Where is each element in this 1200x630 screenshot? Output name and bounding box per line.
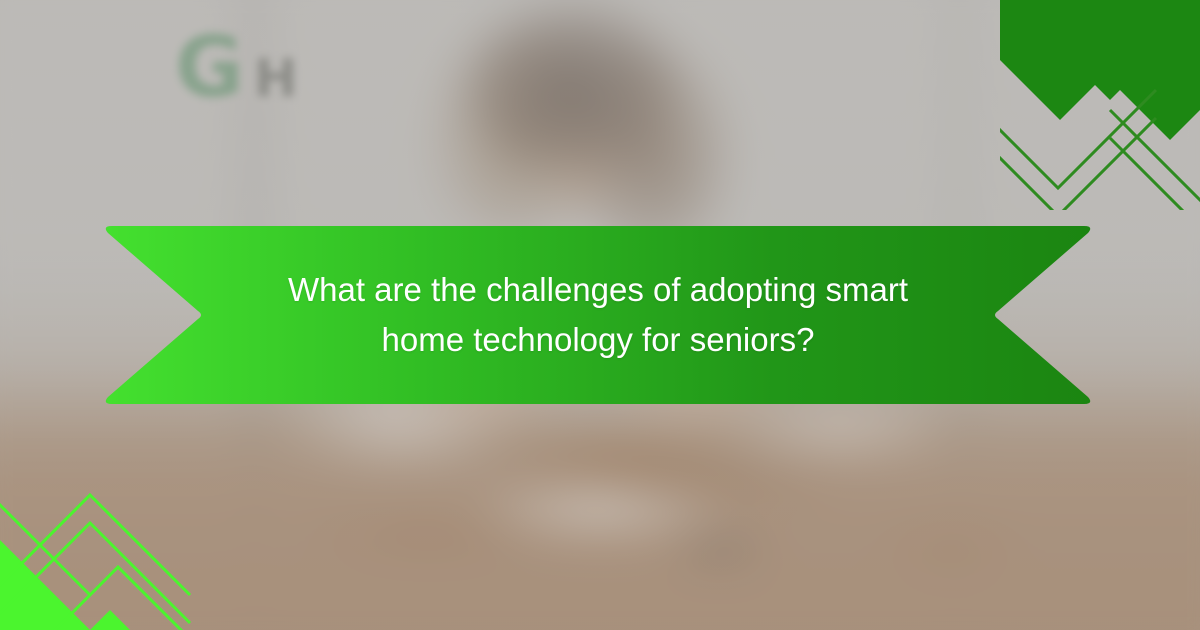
chevron-pattern-top-right	[1000, 0, 1200, 210]
social-share-card: GH	[0, 0, 1200, 630]
question-line-1: What are the challenges of adopting smar…	[288, 272, 908, 308]
banner-text-block: What are the challenges of adopting smar…	[98, 225, 1098, 405]
chevron-outline-icon	[1000, 90, 1156, 188]
chevron-pattern-bottom-left	[0, 415, 215, 630]
question-line-2: home technology for seniors?	[382, 322, 815, 358]
question-banner: What are the challenges of adopting smar…	[98, 225, 1098, 405]
